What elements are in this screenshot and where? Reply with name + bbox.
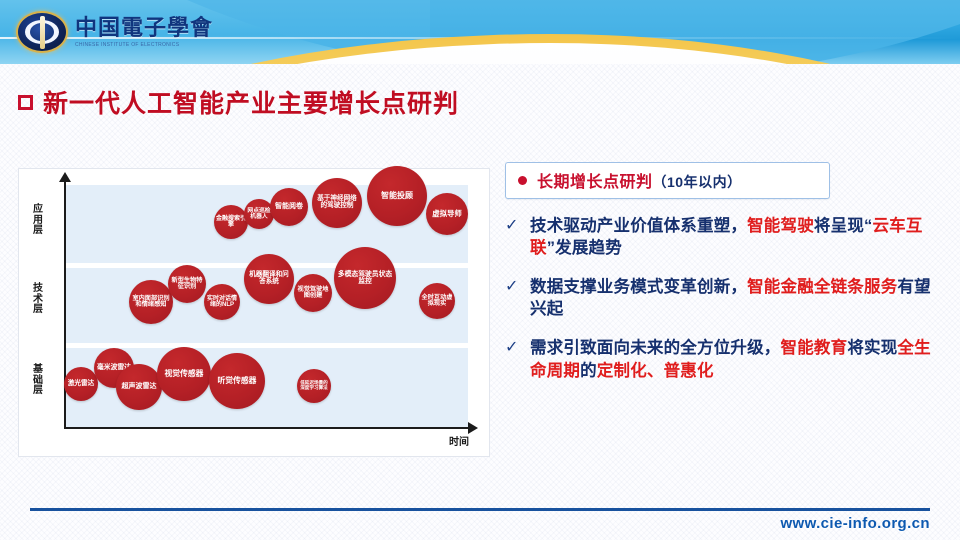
chart-bubble: 智能阅卷	[270, 188, 308, 226]
chart-bubble: 机器翻译和问答系统	[244, 254, 294, 304]
chart-x-axis	[64, 427, 469, 429]
organization-name: 中国電子學會	[75, 17, 213, 39]
bullet-highlight: 智能驾驶	[747, 217, 814, 235]
chart-bubble: 智能投顾	[367, 166, 427, 226]
bullet-text: 数据支撑业务模式变革创新，智能金融全链条服务有望兴起	[530, 276, 945, 320]
slide-header: 中国電子學會 CHINESE INSTITUTE OF ELECTRONICS	[0, 0, 960, 64]
chart-bubble: 虚拟导师	[426, 193, 468, 235]
bullet-item: ✓数据支撑业务模式变革创新，智能金融全链条服务有望兴起	[505, 276, 945, 320]
footer-divider	[30, 508, 930, 511]
bullet-plain: 数据支撑业务模式变革创新，	[530, 278, 747, 296]
bullet-highlight: 定制化、普惠化	[597, 362, 714, 380]
chart-bubble: 视觉传感器	[157, 347, 211, 401]
bullet-highlight: 智能金融全链条服务	[747, 278, 897, 296]
bullet-text: 需求引致面向未来的全方位升级，智能教育将实现全生命周期的定制化、普惠化	[530, 337, 945, 381]
chart-bubble: 实时对话情绪的NLP	[204, 284, 240, 320]
bullet-item: ✓需求引致面向未来的全方位升级，智能教育将实现全生命周期的定制化、普惠化	[505, 337, 945, 381]
right-content-panel: 长期增长点研判（10年以内） ✓技术驱动产业价值体系重塑，智能驾驶将呈现“云车互…	[505, 162, 945, 399]
check-icon: ✓	[505, 337, 521, 358]
check-icon: ✓	[505, 276, 521, 297]
square-bullet-icon	[18, 95, 33, 110]
footer-url[interactable]: www.cie-info.org.cn	[780, 515, 930, 532]
bullet-plain: ”发展趋势	[547, 239, 622, 257]
chart-bubble: 激光雷达	[64, 367, 98, 401]
bullet-plain: 需求引致面向未来的全方位升级，	[530, 339, 781, 357]
chart-y-label-application: 应用层	[29, 205, 47, 237]
round-bullet-icon	[518, 176, 527, 185]
chart-bubble: 室内面部识别和情绪感知	[129, 280, 173, 324]
bullet-item: ✓技术驱动产业价值体系重塑，智能驾驶将呈现“云车互联”发展趋势	[505, 215, 945, 259]
growth-points-chart: 应用层 技术层 基础层 时间 金融搜索引擎网点巡检机器人智能阅卷基于神经网络的驾…	[18, 168, 490, 457]
page-title-text: 新一代人工智能产业主要增长点研判	[43, 84, 459, 120]
page-title: 新一代人工智能产业主要增长点研判	[18, 84, 459, 120]
bullet-plain: 的	[580, 362, 597, 380]
bullet-text: 技术驱动产业价值体系重塑，智能驾驶将呈现“云车互联”发展趋势	[530, 215, 945, 259]
bullet-plain: 将呈现“	[814, 217, 873, 235]
section-headline-main: 长期增长点研判	[537, 174, 653, 191]
bullet-plain: 技术驱动产业价值体系重塑，	[530, 217, 747, 235]
chart-x-axis-label: 时间	[449, 433, 469, 448]
chart-bubble: 超声波雷达	[116, 364, 162, 410]
cie-emblem-icon	[16, 11, 68, 53]
organization-subtitle: CHINESE INSTITUTE OF ELECTRONICS	[75, 42, 213, 48]
slide-root: 中国電子學會 CHINESE INSTITUTE OF ELECTRONICS …	[0, 0, 960, 540]
chart-bubble: 多模态驾驶员状态监控	[334, 247, 396, 309]
section-headline-paren: （10年以内）	[653, 174, 742, 190]
bullet-list: ✓技术驱动产业价值体系重塑，智能驾驶将呈现“云车互联”发展趋势✓数据支撑业务模式…	[505, 215, 945, 382]
chart-bubble: 全时互动虚拟现实	[419, 283, 455, 319]
chart-bubble: 基于神经网络的驾驶控制	[312, 178, 362, 228]
section-headline-text: 长期增长点研判（10年以内）	[537, 168, 742, 192]
bullet-plain: 将实现	[847, 339, 897, 357]
chart-bubble: 低延迟场景的深度学习算法	[297, 369, 331, 403]
bullet-highlight: 智能教育	[781, 339, 848, 357]
section-headline: 长期增长点研判（10年以内）	[505, 162, 830, 199]
chart-bubble: 新型生物特征识别	[168, 265, 206, 303]
chart-bubble: 视觉驾驶地图创建	[294, 274, 332, 312]
chart-bubble: 听觉传感器	[209, 353, 265, 409]
organization-logo: 中国電子學會 CHINESE INSTITUTE OF ELECTRONICS	[16, 9, 266, 55]
chart-y-label-technology: 技术层	[29, 284, 47, 316]
check-icon: ✓	[505, 215, 521, 236]
emblem-bar	[40, 16, 45, 49]
chart-bubble: 金融搜索引擎	[214, 205, 248, 239]
chart-y-label-foundation: 基础层	[29, 365, 47, 397]
